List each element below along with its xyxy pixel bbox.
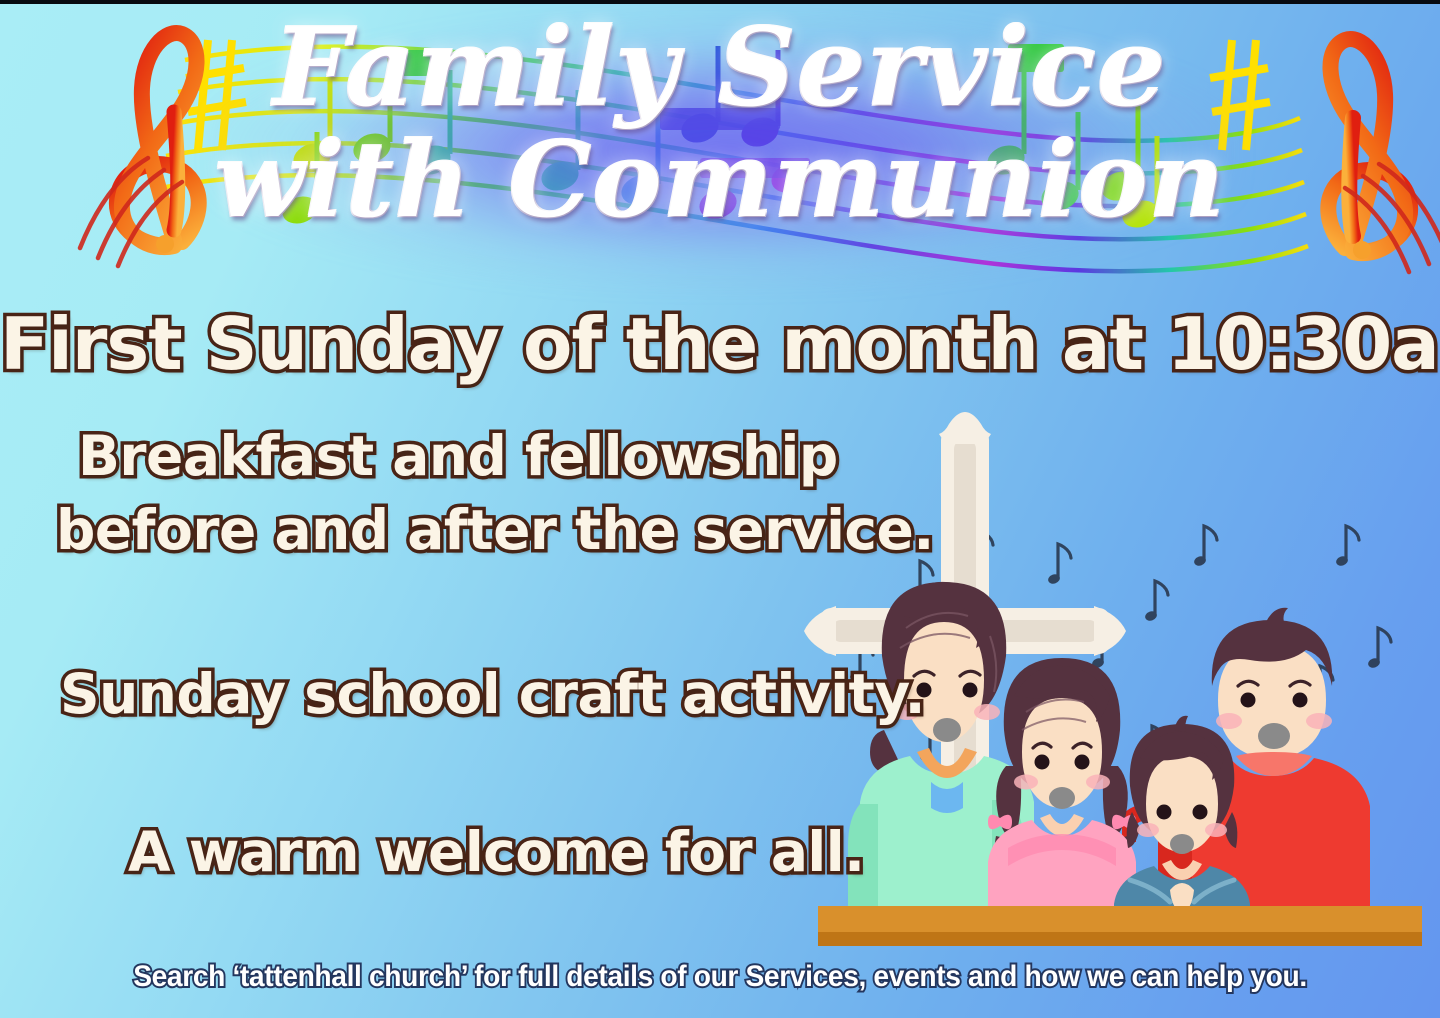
- body-line-before-after: before and after the service.: [56, 498, 934, 562]
- girl-figure: [988, 658, 1136, 940]
- body-line-welcome: A warm welcome for all.: [128, 820, 865, 884]
- title-block: Family Service with Communion: [0, 0, 1440, 232]
- body-line-sunday-school: Sunday school craft activity.: [60, 662, 925, 726]
- footer-strapline: Search ‘tattenhall church’ for full deta…: [43, 960, 1397, 994]
- body-line-breakfast: Breakfast and fellowship: [78, 424, 838, 488]
- poster: Family Service with Communion First Sund…: [0, 0, 1440, 1018]
- title-line-1: Family Service: [0, 0, 1440, 122]
- pew-bench-icon: [818, 906, 1422, 946]
- title-line-2: with Communion: [0, 122, 1440, 232]
- top-black-strip: [0, 0, 1440, 4]
- headline-service-time: First Sunday of the month at 10:30am: [0, 302, 1440, 386]
